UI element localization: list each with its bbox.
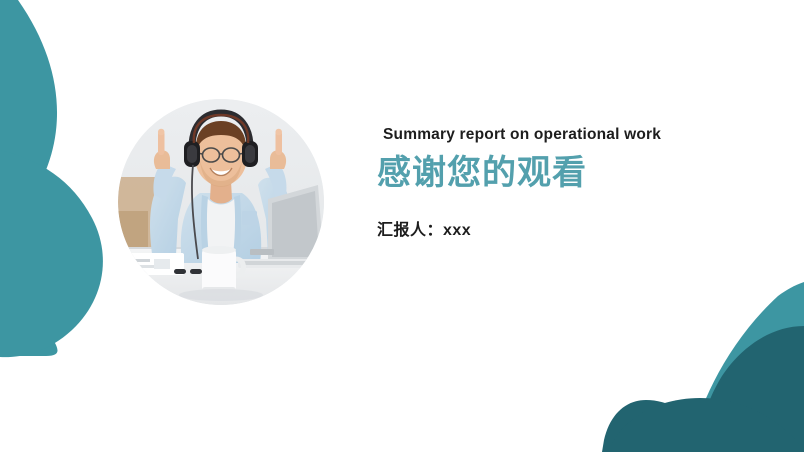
slide-text-block: Summary report on operational work 感谢您的观… (377, 124, 777, 242)
bottom-right-dark-teal-shape (602, 326, 804, 452)
left-teal-blob (0, 0, 58, 356)
speaker-photo (118, 99, 324, 305)
presenter-name: 汇报人：xxx (377, 220, 777, 242)
left-teal-blob-lobe (0, 150, 103, 357)
bottom-right-dark-teal-sweep (608, 398, 804, 452)
photo-furniture-shadow (118, 211, 148, 249)
slide-subtitle-english: Summary report on operational work (377, 124, 777, 145)
presentation-slide: Summary report on operational work 感谢您的观… (0, 0, 804, 452)
bottom-right-light-teal-shape (688, 282, 804, 452)
speaker-photo-illustration (118, 99, 324, 305)
page-title: 感谢您的观看 (377, 151, 777, 195)
